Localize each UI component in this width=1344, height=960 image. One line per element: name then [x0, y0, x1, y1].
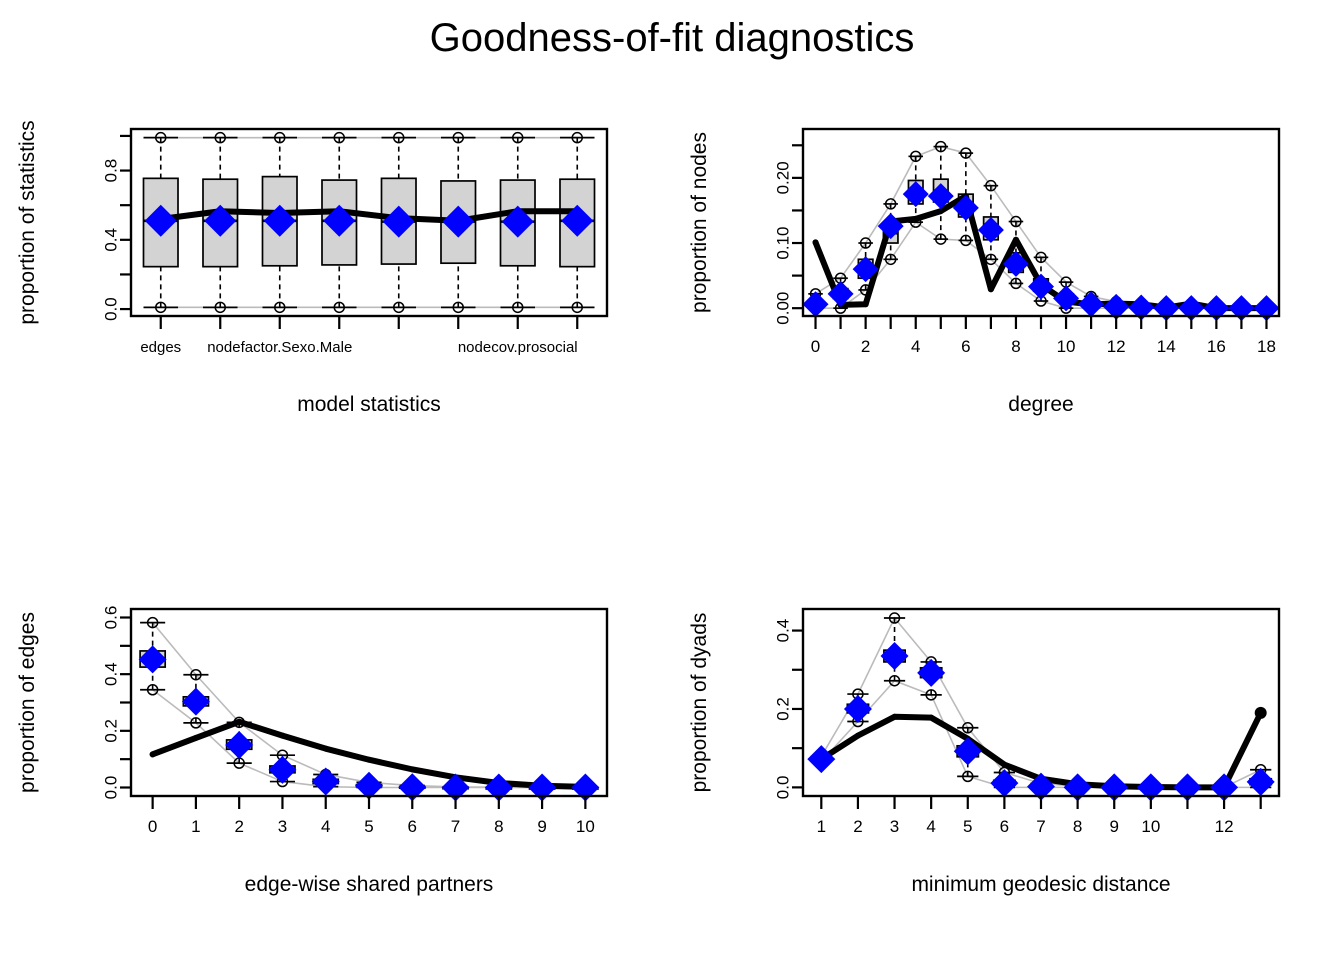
y-tick-label: 0.4	[774, 619, 793, 643]
y-axis-label: proportion of statistics	[16, 120, 39, 324]
x-axis-label: minimum geodesic distance	[911, 873, 1170, 896]
simulated-median-marker	[1028, 274, 1054, 300]
simulated-median-marker	[312, 768, 340, 796]
panel-edgewise-shared-partners: 0.00.20.40.6012345678910edge-wise shared…	[0, 564, 672, 960]
x-tick-label: 4	[321, 817, 330, 836]
y-tick-label: 0.10	[774, 226, 793, 259]
x-tick-label: 2	[234, 817, 243, 836]
x-tick-label: nodefactor.Sexo.Male	[207, 339, 352, 356]
x-tick-label: 10	[576, 817, 595, 836]
plot-edgewise-shared-partners: 0.00.20.40.6012345678910edge-wise shared…	[0, 564, 672, 960]
y-tick-label: 0.00	[774, 292, 793, 325]
y-tick-label: 0.0	[774, 776, 793, 800]
y-tick-label: 0.4	[102, 662, 121, 686]
x-tick-label: 0	[811, 337, 820, 356]
simulated-median-marker	[954, 737, 982, 765]
x-tick-label: 7	[451, 817, 460, 836]
y-tick-label: 0.2	[102, 719, 121, 743]
x-tick-label: 6	[961, 337, 970, 356]
gof-figure: Goodness-of-fit diagnostics 0.00.40.8edg…	[0, 0, 1344, 960]
panel-degree: 0.000.100.20024681012141618degreeproport…	[672, 84, 1344, 480]
plot-model-statistics: 0.00.40.8edgesnodefactor.Sexo.Malenodeco…	[0, 84, 672, 480]
x-tick-label: 16	[1207, 337, 1226, 356]
y-tick-label: 0.4	[102, 228, 121, 252]
simulated-median-marker	[881, 642, 909, 670]
plot-degree: 0.000.100.20024681012141618degreeproport…	[672, 84, 1344, 480]
x-axis-label: degree	[1008, 393, 1073, 416]
simulated-median-marker	[1247, 768, 1275, 796]
simulated-median-marker	[917, 659, 945, 687]
y-tick-label: 0.8	[102, 159, 121, 183]
simulated-median-marker	[978, 217, 1004, 243]
x-tick-label: 6	[408, 817, 417, 836]
x-tick-label: 2	[861, 337, 870, 356]
y-tick-label: 0.0	[102, 776, 121, 800]
x-axis-label: edge-wise shared partners	[245, 873, 494, 896]
y-axis-label: proportion of dyads	[688, 613, 711, 793]
x-tick-label: 9	[1109, 817, 1118, 836]
y-axis-label: proportion of nodes	[688, 132, 711, 313]
x-tick-label: 5	[963, 817, 972, 836]
x-axis-label: model statistics	[297, 393, 441, 416]
page-title: Goodness-of-fit diagnostics	[0, 16, 1344, 61]
x-tick-label: 12	[1215, 817, 1234, 836]
x-tick-label: 0	[148, 817, 157, 836]
x-tick-label: 2	[853, 817, 862, 836]
simulated-median-marker	[844, 695, 872, 723]
panel-minimum-geodesic-distance: 0.00.20.41234567891012minimum geodesic d…	[672, 564, 1344, 960]
x-tick-label: 10	[1057, 337, 1076, 356]
x-tick-label: 3	[890, 817, 899, 836]
x-tick-label: 9	[537, 817, 546, 836]
simulated-median-marker	[139, 645, 167, 673]
x-tick-label: 8	[1073, 817, 1082, 836]
simulated-median-marker	[182, 688, 210, 716]
x-tick-label: 3	[278, 817, 287, 836]
simulated-median-marker	[903, 181, 929, 207]
x-tick-label: 5	[364, 817, 373, 836]
outlier-point	[1255, 707, 1267, 719]
x-tick-label: edges	[140, 339, 181, 356]
x-tick-label: 8	[494, 817, 503, 836]
x-tick-label: nodecov.prosocial	[458, 339, 578, 356]
x-tick-label: 12	[1107, 337, 1126, 356]
x-tick-label: 1	[817, 817, 826, 836]
y-tick-label: 0.2	[774, 697, 793, 721]
simulated-median-marker	[1078, 291, 1104, 317]
x-tick-label: 10	[1141, 817, 1160, 836]
panel-model-statistics: 0.00.40.8edgesnodefactor.Sexo.Malenodeco…	[0, 84, 672, 480]
simulated-median-marker	[803, 291, 829, 317]
y-axis-label: proportion of edges	[16, 612, 39, 793]
x-tick-label: 1	[191, 817, 200, 836]
x-tick-label: 4	[926, 817, 935, 836]
y-tick-label: 0.6	[102, 606, 121, 630]
y-tick-label: 0.0	[102, 297, 121, 321]
x-tick-label: 4	[911, 337, 920, 356]
y-tick-label: 0.20	[774, 161, 793, 194]
x-tick-label: 14	[1157, 337, 1176, 356]
x-tick-label: 18	[1257, 337, 1276, 356]
x-tick-label: 7	[1036, 817, 1045, 836]
x-tick-label: 8	[1011, 337, 1020, 356]
plot-minimum-geodesic-distance: 0.00.20.41234567891012minimum geodesic d…	[672, 564, 1344, 960]
x-tick-label: 6	[1000, 817, 1009, 836]
